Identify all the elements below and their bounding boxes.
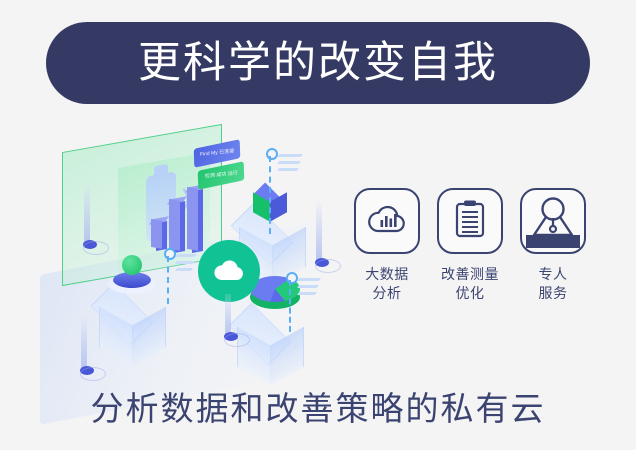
dash-marker-dot-top bbox=[266, 148, 278, 160]
streak-lines-right bbox=[298, 278, 320, 299]
streak-lines-top bbox=[278, 154, 302, 175]
chip-green-text: 检测 成功 运行 bbox=[204, 171, 237, 181]
dash-marker-line-right bbox=[289, 280, 291, 332]
chip-blue-text: Find My 已连接 bbox=[200, 149, 234, 159]
feature-icon-box bbox=[437, 188, 503, 254]
iso-bar-large bbox=[192, 189, 203, 253]
pin-under-cloud bbox=[224, 294, 232, 347]
green-sphere-marker bbox=[122, 255, 142, 275]
iso-bar-small bbox=[156, 221, 167, 251]
iso-bar-medium bbox=[174, 201, 185, 253]
cloud-badge bbox=[198, 240, 260, 302]
page-title: 更科学的改变自我 bbox=[138, 42, 498, 85]
dash-marker-line-top bbox=[269, 156, 271, 234]
pin-left-far bbox=[83, 184, 91, 255]
feature-label-line1: 改善测量 bbox=[435, 265, 505, 284]
cloud-chart-icon bbox=[366, 202, 408, 241]
header-pill: 更科学的改变自我 bbox=[46, 22, 590, 104]
pin-bottom-left bbox=[80, 316, 88, 381]
feature-label-service: 专人 服务 bbox=[518, 265, 588, 303]
pin-right bbox=[315, 202, 323, 273]
feature-label-big-data: 大数据 分析 bbox=[352, 265, 422, 303]
mini-cube-ornament bbox=[251, 184, 291, 226]
feature-label-line2: 分析 bbox=[352, 284, 422, 303]
feature-label-line2: 优化 bbox=[435, 284, 505, 303]
pedestal-left bbox=[94, 286, 170, 362]
dash-marker-dot-right bbox=[286, 272, 298, 284]
cloud-icon bbox=[212, 259, 246, 283]
feature-item-measurement[interactable]: 改善测量 优化 bbox=[435, 188, 505, 303]
isometric-illustration: Find My 已连接 检测 成功 运行 bbox=[46, 126, 346, 376]
dash-marker-dot-mid bbox=[164, 248, 176, 260]
footer-tagline: 分析数据和改善策略的私有云 bbox=[0, 382, 636, 430]
feature-icon-box bbox=[520, 188, 586, 254]
feature-label-line2: 服务 bbox=[518, 284, 588, 303]
feature-icon-box bbox=[354, 188, 420, 254]
agent-person-icon bbox=[524, 190, 582, 253]
clipboard-icon bbox=[453, 199, 487, 244]
feature-item-big-data[interactable]: 大数据 分析 bbox=[352, 188, 422, 303]
feature-item-service[interactable]: 专人 服务 bbox=[518, 188, 588, 303]
feature-label-line1: 专人 bbox=[518, 265, 588, 284]
streak-lines-mid bbox=[176, 254, 196, 275]
feature-list: 大数据 分析 改善测量 bbox=[352, 188, 602, 333]
promo-banner: 更科学的改变自我 Find My 已连接 检 bbox=[0, 0, 636, 450]
feature-label-measurement: 改善测量 优化 bbox=[435, 265, 505, 303]
dash-marker-line-mid bbox=[167, 256, 169, 304]
feature-label-line1: 大数据 bbox=[352, 265, 422, 284]
